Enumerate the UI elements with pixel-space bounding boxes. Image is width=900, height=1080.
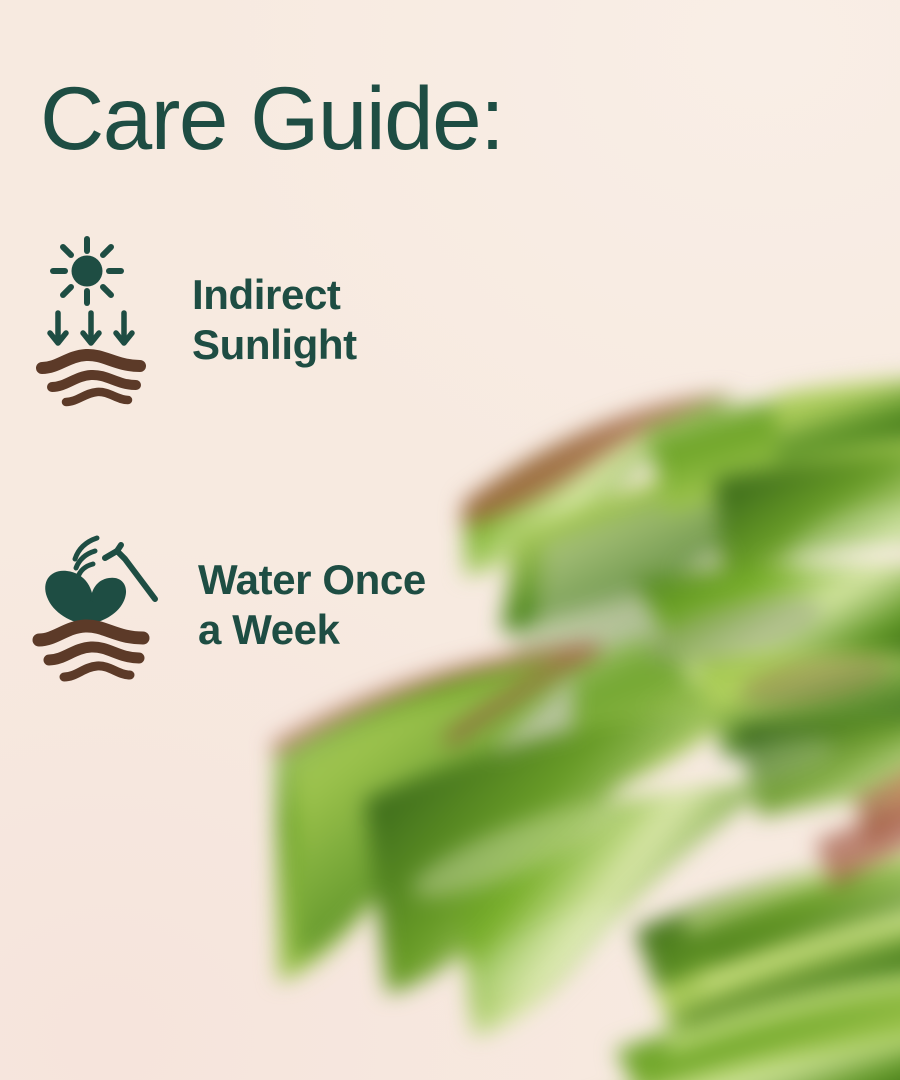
care-guide-page: Care Guide: [0,0,900,1080]
care-item-label: Water Once a Week [198,555,426,655]
page-title: Care Guide: [40,74,503,163]
watering-sprout-icon [33,527,158,682]
plant-photo [215,330,900,1080]
care-item-indirect-sunlight: Indirect Sunlight [40,235,357,405]
care-item-label: Indirect Sunlight [192,270,357,370]
care-item-water-once-a-week: Water Once a Week [33,527,426,682]
sun-over-soil-icon [40,235,150,405]
